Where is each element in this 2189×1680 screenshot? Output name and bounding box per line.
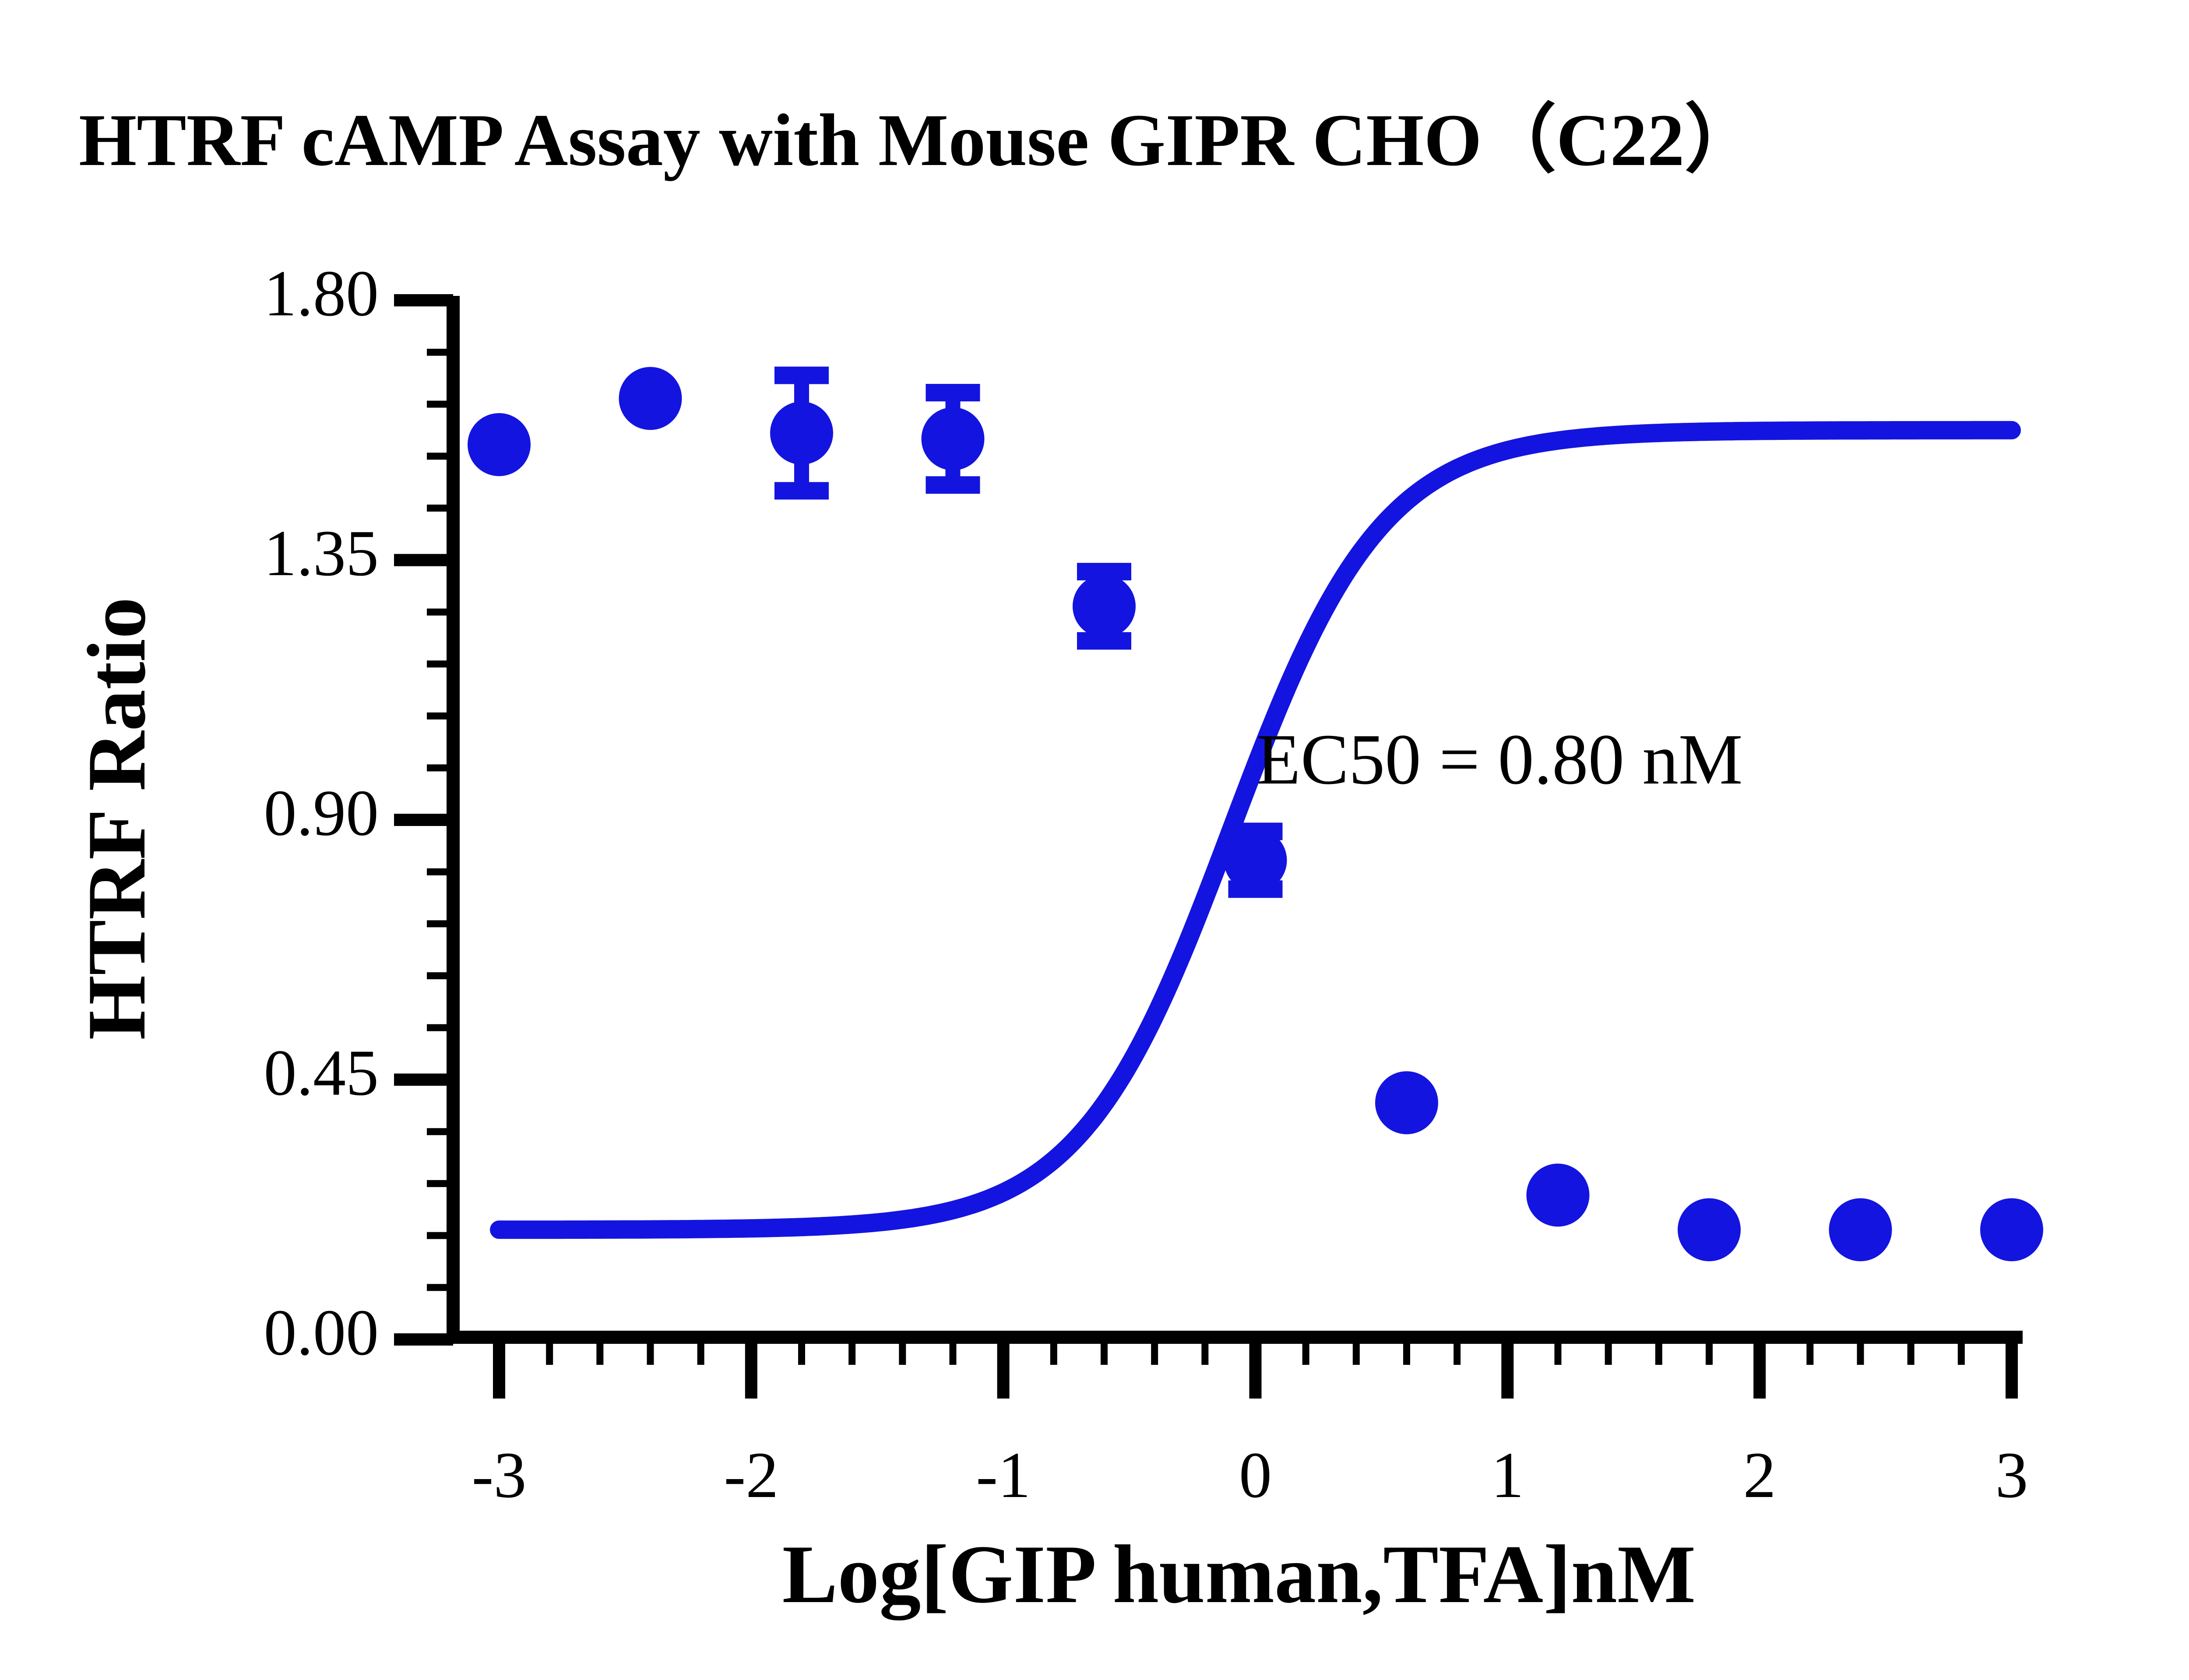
x-tick-label: 1 <box>1491 1439 1524 1511</box>
y-tick-label: 1.35 <box>264 517 379 590</box>
x-axis-title: Log[GIP human,TFA]nM <box>782 1529 1696 1620</box>
y-tick-label: 0.90 <box>264 777 379 849</box>
data-point <box>1527 1163 1590 1227</box>
y-tick-label: 0.45 <box>264 1037 379 1109</box>
data-point <box>1375 1071 1438 1134</box>
data-point-markers <box>468 367 2043 1261</box>
data-point <box>922 408 985 471</box>
error-bars <box>774 375 1283 889</box>
x-tick-label: 3 <box>1995 1439 2028 1511</box>
data-point <box>1980 1198 2043 1261</box>
x-axis-tick-labels: -3-2-10123 <box>472 1439 2028 1511</box>
x-tick-label: -2 <box>724 1439 778 1511</box>
x-tick-label: -1 <box>976 1439 1031 1511</box>
dose-response-plot: 0.000.450.901.351.80 -3-2-10123 HTRF Rat… <box>0 0 2189 1680</box>
data-point <box>619 367 682 430</box>
x-axis-ticks <box>499 1337 2012 1399</box>
y-axis-title: HTRF Ratio <box>71 597 163 1040</box>
y-axis-tick-labels: 0.000.450.901.351.80 <box>264 257 379 1369</box>
data-point <box>1224 829 1287 892</box>
data-point <box>1073 575 1136 638</box>
data-point <box>1829 1198 1892 1261</box>
data-point <box>468 413 531 476</box>
ec50-annotation: EC50 = 0.80 nM <box>1256 719 1743 799</box>
data-point <box>770 401 833 464</box>
data-point <box>1678 1198 1741 1261</box>
x-tick-label: 2 <box>1743 1439 1776 1511</box>
figure-canvas: HTRF cAMP Assay with Mouse GIPR CHO（C22）… <box>0 0 2189 1680</box>
x-tick-label: -3 <box>472 1439 527 1511</box>
y-tick-label: 0.00 <box>264 1296 379 1369</box>
x-tick-label: 0 <box>1239 1439 1272 1511</box>
y-tick-label: 1.80 <box>264 257 379 330</box>
